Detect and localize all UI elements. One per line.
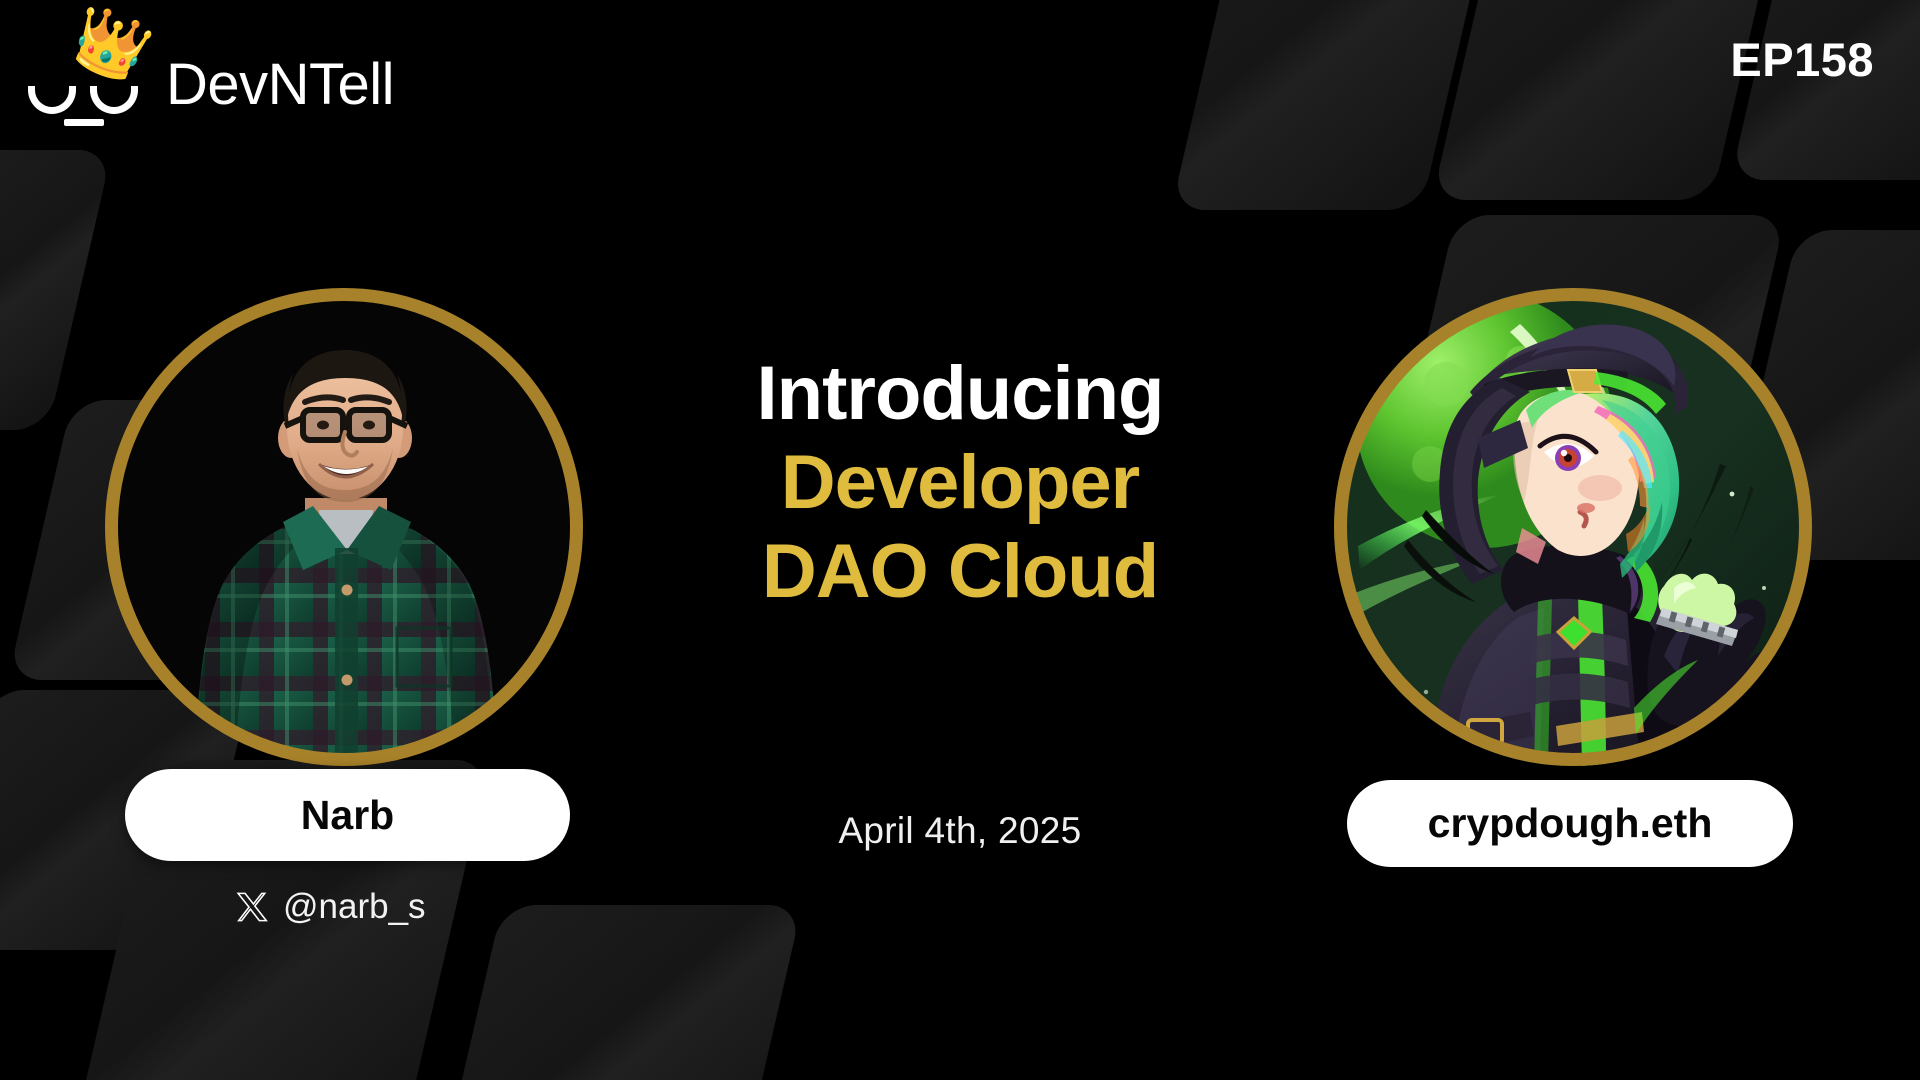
anime-avatar-illustration — [1334, 288, 1812, 766]
speaker-handle-label: @narb_s — [283, 887, 426, 927]
title-lines: Introducing Developer DAO Cloud — [660, 350, 1260, 617]
title-line-3: DAO Cloud — [660, 528, 1260, 617]
devntell-episode-slide: { "brand": { "logo_text": "DevNTell", "c… — [0, 0, 1920, 1080]
speaker-name-label: crypdough.eth — [1428, 800, 1713, 847]
speaker-name-label: Narb — [301, 792, 394, 839]
avatar-narb — [105, 288, 583, 766]
speaker-card-right: crypdough.eth @crypdoughdoteth — [1250, 0, 1890, 1080]
portrait-illustration-narb — [105, 288, 583, 808]
avatar-photo-narb — [105, 288, 583, 766]
x-twitter-icon — [235, 890, 269, 924]
episode-title-block: Introducing Developer DAO Cloud April 4t… — [660, 0, 1260, 1080]
avatar-photo-crypdough — [1334, 288, 1812, 766]
speaker-name-pill-crypdough[interactable]: crypdough.eth — [1347, 780, 1793, 867]
anime-avatar-svg — [1334, 288, 1812, 766]
speaker-card-left: Narb @narb_s — [30, 0, 670, 1080]
speaker-name-pill-narb[interactable]: Narb — [125, 769, 570, 861]
event-date: April 4th, 2025 — [660, 810, 1260, 852]
title-line-1: Introducing — [660, 350, 1260, 439]
speaker-handle-narb[interactable]: @narb_s — [235, 887, 426, 927]
portrait-svg-narb — [97, 298, 597, 818]
title-line-2: Developer — [660, 439, 1260, 528]
avatar-crypdough — [1334, 288, 1812, 766]
